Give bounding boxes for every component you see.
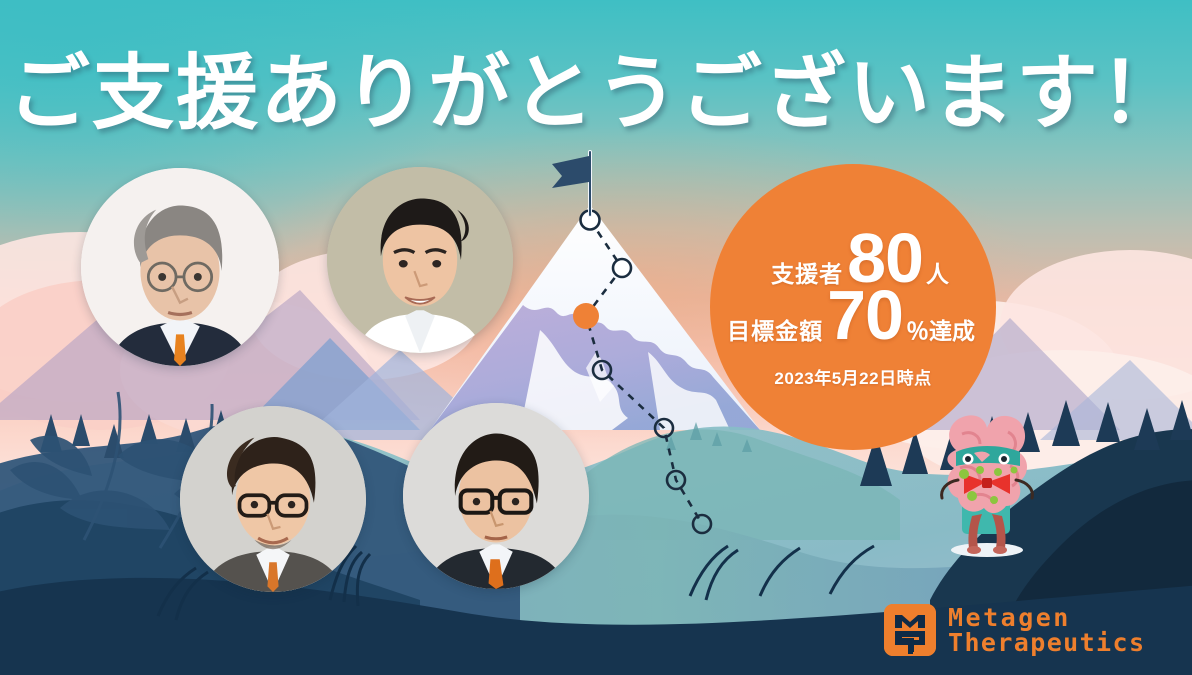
portrait-bottom-right-figure [403, 403, 589, 589]
portrait-bottom-left [180, 406, 366, 592]
stats-date-note: 2023年5月22日時点 [774, 364, 931, 389]
portrait-bottom-left-figure [180, 406, 366, 592]
progress-marker [573, 303, 599, 329]
brand-logo: Metagen Therapeutics [884, 604, 1145, 656]
page-title: ご支援ありがとうございます！ [0, 26, 1192, 145]
logo-line-2: Therapeutics [948, 630, 1145, 656]
logo-line-1: Metagen [948, 605, 1145, 631]
portrait-bottom-right [403, 403, 589, 589]
portrait-top-right-figure [327, 167, 513, 353]
portrait-top-right [327, 167, 513, 353]
goal-unit: ％達成 [906, 312, 975, 346]
goal-label: 目標金額 [727, 312, 823, 346]
goal-value: 70 [827, 282, 903, 349]
metagen-mark-icon [884, 604, 936, 656]
campaign-banner: ご支援ありがとうございます！ 支援者 80 人 目標金額 70 ％達成 2023… [0, 0, 1192, 675]
summit-flag [552, 152, 590, 215]
goal-row: 目標金額 70 ％達成 [727, 282, 975, 349]
portrait-top-left [81, 168, 279, 366]
portrait-top-left-figure [81, 168, 279, 366]
gut-mascot [928, 404, 1046, 564]
mg-monogram-icon [884, 604, 936, 656]
